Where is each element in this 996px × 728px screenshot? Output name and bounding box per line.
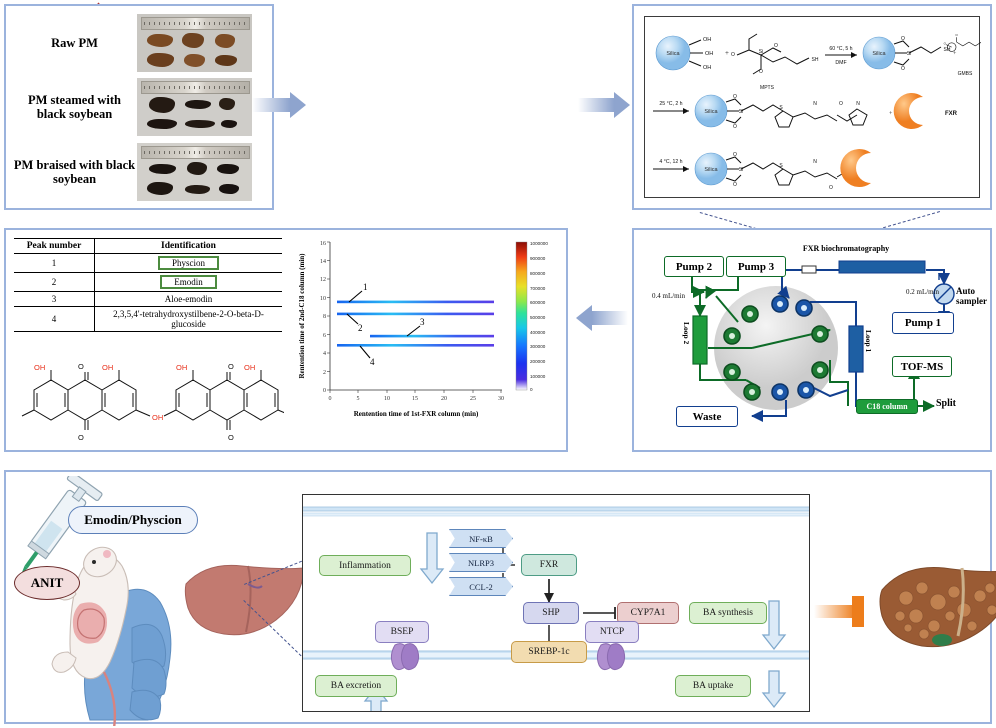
- svg-text:300000: 300000: [530, 344, 546, 349]
- svg-text:SH: SH: [812, 57, 819, 63]
- structure-emodin: [22, 370, 150, 430]
- svg-text:O: O: [228, 433, 234, 442]
- colorbar: [516, 242, 527, 390]
- chemical-structures: OH O OH OH O OH O OH O O: [12, 358, 284, 448]
- svg-text:O: O: [901, 66, 905, 72]
- svg-text:8: 8: [323, 314, 326, 320]
- svg-text:OH: OH: [34, 363, 45, 372]
- node-nfkb: NF-κB: [449, 529, 513, 548]
- flow-rate-1: 0.2 mL/min: [906, 288, 939, 296]
- svg-text:O: O: [733, 182, 737, 188]
- x-axis-label: Rentention time of 1st-FXR column (min): [354, 410, 479, 418]
- node-inflammation: Inflammation: [319, 555, 411, 576]
- svg-text:OH: OH: [705, 51, 713, 57]
- svg-text:Si: Si: [739, 167, 743, 173]
- svg-text:N: N: [813, 159, 817, 165]
- svg-text:MPTS: MPTS: [760, 85, 775, 91]
- svg-text:700000: 700000: [530, 286, 546, 291]
- arrow-samples-to-instrument: [252, 92, 306, 118]
- results-panel: Peak number Identification 1 Physcion 2 …: [4, 228, 568, 452]
- svg-text:OH: OH: [703, 65, 711, 71]
- svg-text:OH: OH: [176, 363, 187, 372]
- svg-text:600000: 600000: [530, 300, 546, 305]
- svg-text:O: O: [759, 69, 763, 75]
- svg-text:O: O: [901, 36, 905, 42]
- svg-text:OH: OH: [244, 363, 255, 372]
- loop-1-label: Loop 1: [864, 330, 873, 352]
- auto-sampler-label: Auto sampler: [956, 286, 990, 306]
- svg-text:25 °C, 2 h: 25 °C, 2 h: [659, 101, 682, 107]
- svg-text:O: O: [228, 362, 234, 371]
- table-row: 3 Aloe-emodin: [14, 292, 282, 307]
- svg-text:60 °C, 5 h: 60 °C, 5 h: [829, 46, 852, 52]
- svg-text:25: 25: [470, 396, 476, 402]
- svg-text:3: 3: [420, 317, 425, 327]
- loop-2-label: Loop 2: [682, 322, 691, 344]
- node-ba-synthesis: BA synthesis: [689, 602, 767, 624]
- svg-text:1000000: 1000000: [530, 241, 548, 246]
- svg-text:12: 12: [320, 277, 326, 283]
- svg-text:Si: Si: [907, 51, 911, 57]
- svg-text:O: O: [955, 33, 958, 37]
- svg-text:O: O: [944, 42, 947, 46]
- svg-text:1: 1: [363, 282, 368, 292]
- svg-text:N: N: [856, 101, 860, 107]
- svg-text:200000: 200000: [530, 359, 546, 364]
- node-ba-excretion: BA excretion: [315, 675, 397, 697]
- svg-text:900000: 900000: [530, 256, 546, 261]
- sample-label-steamed: PM steamed with black soybean: [12, 93, 137, 121]
- svg-text:Silica: Silica: [666, 51, 680, 57]
- svg-text:OH: OH: [703, 37, 711, 43]
- fxr-synthesis-panel: Silica OH OH OH + O Si O O SH MPTS: [632, 4, 992, 210]
- svg-text:FXR: FXR: [945, 111, 958, 117]
- cell-identification: Emodin: [95, 273, 283, 292]
- svg-text:10: 10: [384, 396, 390, 402]
- svg-text:4: 4: [370, 357, 375, 367]
- col-peak-number: Peak number: [14, 239, 95, 254]
- svg-text:16: 16: [320, 241, 326, 247]
- svg-text:O: O: [829, 185, 833, 191]
- signaling-pathway-box: Inflammation NF-κB NLRP3 CCL-2 FXR SHP C…: [302, 494, 810, 712]
- 2d-lc-system-panel: FXR biochromatography: [632, 228, 992, 452]
- synthesis-scheme: Silica OH OH OH + O Si O O SH MPTS: [644, 16, 980, 198]
- highlight-emodin: Emodin: [160, 275, 217, 289]
- pump-3-box[interactable]: Pump 3: [726, 256, 786, 277]
- svg-text:S: S: [779, 105, 783, 111]
- ruler-icon: [141, 17, 250, 30]
- svg-text:S: S: [779, 163, 783, 169]
- split-label: Split: [936, 398, 956, 409]
- svg-text:Silica: Silica: [704, 109, 718, 115]
- ntcp-transporter: [597, 644, 624, 670]
- svg-text:20: 20: [441, 396, 447, 402]
- colorbar-ticks: 1000000 900000 800000 700000 600000 5000…: [530, 241, 548, 392]
- healthy-liver-icon: [178, 554, 308, 644]
- in-vivo-panel: Emodin/Physcion ANIT: [4, 470, 992, 724]
- identification-table: Peak number Identification 1 Physcion 2 …: [14, 238, 282, 332]
- sample-row: Raw PM: [12, 14, 252, 72]
- arrow-instrument-to-synthesis: [578, 92, 630, 118]
- node-nlrp3: NLRP3: [449, 553, 513, 572]
- svg-text:O: O: [78, 362, 84, 371]
- synthesis-scheme-svg: Silica OH OH OH + O Si O O SH MPTS: [645, 17, 981, 199]
- ruler-icon: [141, 146, 250, 159]
- node-bsep: BSEP: [375, 621, 429, 643]
- sample-row: PM braised with black soybean: [12, 143, 252, 201]
- svg-text:30: 30: [498, 396, 504, 402]
- svg-text:400000: 400000: [530, 330, 546, 335]
- svg-text:O: O: [733, 94, 737, 100]
- svg-text:+: +: [725, 49, 729, 57]
- pump-2-box[interactable]: Pump 2: [664, 256, 724, 277]
- cell-identification: 2,3,5,4'-tetrahydroxystilbene-2-O-beta-D…: [95, 307, 283, 332]
- svg-text:Si: Si: [759, 49, 763, 55]
- svg-text:0: 0: [323, 388, 326, 394]
- pump-1-box[interactable]: Pump 1: [892, 312, 954, 334]
- inhibition-arrow-icon: [814, 592, 874, 632]
- fxr-column-bar: [839, 261, 925, 273]
- node-ntcp: NTCP: [585, 621, 639, 643]
- arrow-system-to-results: [576, 305, 628, 331]
- svg-text:4 °C, 12 h: 4 °C, 12 h: [659, 159, 682, 165]
- svg-text:2: 2: [358, 323, 363, 333]
- cell-identification: Aloe-emodin: [95, 292, 283, 307]
- bsep-transporter: [391, 644, 418, 670]
- svg-text:O: O: [839, 101, 843, 107]
- svg-text:4: 4: [323, 351, 326, 357]
- svg-text:0: 0: [329, 396, 332, 402]
- sample-photos-panel: Raw PM PM steamed with black soybean PM …: [4, 4, 274, 210]
- node-fxr: FXR: [521, 554, 577, 576]
- svg-text:10: 10: [320, 296, 326, 302]
- sample-photo-braised: [137, 143, 252, 201]
- svg-text:500000: 500000: [530, 315, 546, 320]
- svg-text:N: N: [813, 101, 817, 107]
- svg-text:14: 14: [320, 259, 326, 265]
- sample-row: PM steamed with black soybean: [12, 78, 252, 136]
- sample-photo-steamed: [137, 78, 252, 136]
- c18-column-box[interactable]: C18 column: [856, 399, 918, 414]
- y-axis-label: Rentention time of 2nd-C18 column (min): [298, 253, 306, 379]
- drug-label: Emodin/Physcion: [68, 506, 198, 534]
- svg-text:5: 5: [357, 396, 360, 402]
- svg-text:Silica: Silica: [872, 51, 886, 57]
- svg-text:OH: OH: [102, 363, 113, 372]
- svg-text:O: O: [733, 124, 737, 130]
- ruler-icon: [141, 81, 250, 94]
- node-shp: SHP: [523, 602, 579, 624]
- cell-peak-number: 4: [14, 307, 95, 332]
- svg-text:O: O: [731, 52, 735, 58]
- svg-text:GMBS: GMBS: [958, 71, 973, 77]
- svg-text:15: 15: [412, 396, 418, 402]
- svg-text:Silica: Silica: [704, 167, 718, 173]
- 2d-chromatogram-chart: 0 2 4 6 8 10 12 14 16 0 5 10 15 20 25 30: [292, 234, 566, 450]
- svg-text:DMF: DMF: [835, 60, 846, 66]
- table-row: 1 Physcion: [14, 254, 282, 273]
- sample-label-raw: Raw PM: [12, 36, 137, 50]
- svg-text:+: +: [953, 51, 957, 57]
- table-row: 2 Emodin: [14, 273, 282, 292]
- svg-text:0: 0: [530, 387, 533, 392]
- structure-physcion: [164, 370, 284, 430]
- table-row: 4 2,3,5,4'-tetrahydroxystilbene-2-O-beta…: [14, 307, 282, 332]
- cell-peak-number: 1: [14, 254, 95, 273]
- table-header-row: Peak number Identification: [14, 239, 282, 254]
- flow-rate-2: 0.4 mL/min: [652, 292, 685, 300]
- sample-photo-raw: [137, 14, 252, 72]
- svg-text:800000: 800000: [530, 271, 546, 276]
- svg-text:+: +: [889, 111, 893, 117]
- col-identification: Identification: [95, 239, 283, 254]
- svg-text:100000: 100000: [530, 374, 546, 379]
- svg-text:O: O: [78, 433, 84, 442]
- svg-text:O: O: [733, 152, 737, 158]
- cirrhotic-liver-icon: [872, 554, 996, 664]
- svg-text:Si: Si: [739, 109, 743, 115]
- sample-label-braised: PM braised with black soybean: [12, 158, 137, 186]
- tof-ms-box[interactable]: TOF-MS: [892, 356, 952, 377]
- cell-identification: Physcion: [95, 254, 283, 273]
- anit-label: ANIT: [14, 566, 80, 600]
- node-ccl2: CCL-2: [449, 577, 513, 596]
- svg-text:O: O: [774, 43, 778, 49]
- node-srebp1c: SREBP-1c: [511, 641, 587, 663]
- svg-text:OH: OH: [152, 413, 163, 422]
- cell-peak-number: 3: [14, 292, 95, 307]
- svg-text:2: 2: [323, 370, 326, 376]
- svg-text:6: 6: [323, 333, 326, 339]
- highlight-physcion: Physcion: [158, 256, 219, 270]
- node-ba-uptake: BA uptake: [675, 675, 751, 697]
- waste-box[interactable]: Waste: [676, 406, 738, 427]
- membrane-top: [303, 507, 809, 511]
- cell-peak-number: 2: [14, 273, 95, 292]
